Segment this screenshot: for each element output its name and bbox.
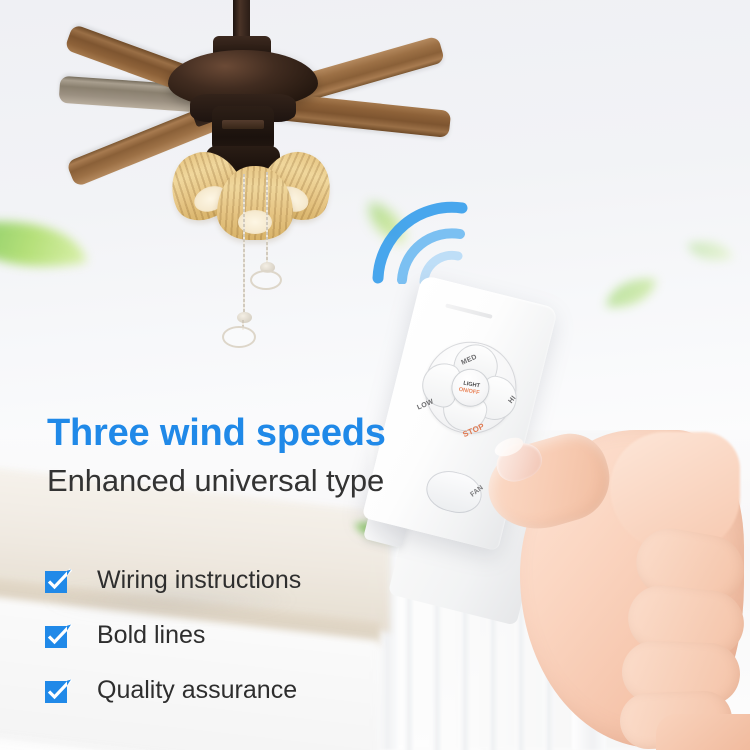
list-item-label: Wiring instructions [97,566,301,595]
checkbox-checked-icon [44,623,70,649]
ir-emitter [445,303,493,318]
fan-brand-plate [222,120,264,129]
wrist [656,714,750,750]
page-title: Three wind speeds [47,412,386,455]
pull-chain-knob [237,312,252,323]
feature-list: Wiring instructions Bold lines Quality [44,553,464,718]
page-subtitle: Enhanced universal type [47,463,384,499]
list-item-label: Bold lines [97,621,205,650]
checkbox-checked-icon [44,568,70,594]
list-item: Wiring instructions [44,553,464,608]
product-banner: MED HI LOW STOP LIGHT ON/OFF FAN [0,0,750,750]
pull-chain-ring [250,270,282,290]
list-item: Quality assurance [44,663,464,718]
hand-holding-remote [460,406,750,750]
list-item-label: Quality assurance [97,676,297,705]
leaf-decoration [687,233,733,269]
pull-chain-ring [222,326,256,348]
list-item: Bold lines [44,608,464,663]
checkbox-checked-icon [44,678,70,704]
pull-chain [266,172,268,266]
pull-chain [243,174,245,316]
wireless-signal-icon [366,198,486,284]
